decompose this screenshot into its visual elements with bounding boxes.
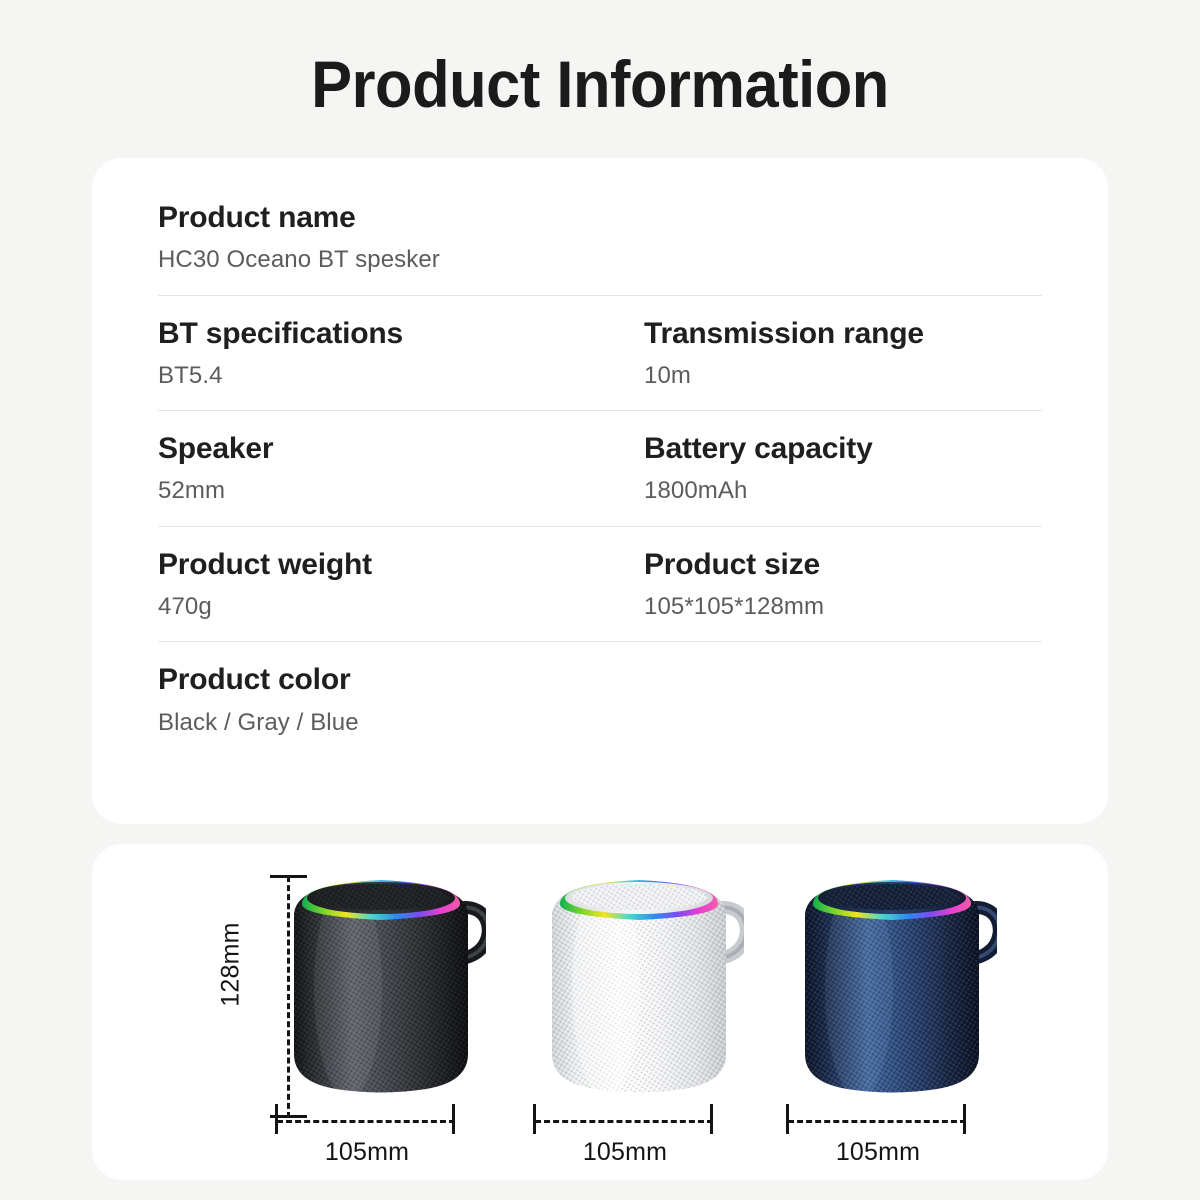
spec-value: BT5.4	[158, 360, 644, 392]
speaker-image-blue	[787, 858, 997, 1106]
spec-label: Product color	[158, 661, 1042, 699]
spec-value: 1800mAh	[644, 475, 1042, 507]
spec-cell-product-name: Product name HC30 Oceano BT spesker	[158, 199, 1042, 277]
spec-row: Product color Black / Gray / Blue	[158, 642, 1042, 757]
spec-label: Battery capacity	[644, 430, 1042, 468]
width-dimension: 105mm	[270, 1108, 500, 1174]
spec-cell-product-color: Product color Black / Gray / Blue	[158, 661, 1042, 739]
height-dimension-label: 128mm	[217, 900, 246, 1030]
spec-row: Speaker 52mm Battery capacity 1800mAh	[158, 411, 1042, 527]
spec-cell-product-weight: Product weight 470g	[158, 546, 644, 624]
spec-label: Product name	[158, 199, 1042, 237]
dimension-line-icon	[535, 1120, 713, 1123]
spec-label: Transmission range	[644, 315, 1042, 353]
spec-value: Black / Gray / Blue	[158, 707, 1042, 739]
width-dimension: 105mm	[528, 1108, 758, 1174]
speaker-variant-black: 105mm	[254, 858, 516, 1180]
width-dimension-label: 105mm	[528, 1138, 722, 1167]
dimension-line-icon	[277, 1120, 455, 1123]
width-dimension-label: 105mm	[781, 1138, 975, 1167]
specifications-list: Product name HC30 Oceano BT spesker BT s…	[158, 180, 1042, 757]
spec-row: Product weight 470g Product size 105*105…	[158, 527, 1042, 643]
dimension-cap-icon	[275, 1104, 278, 1134]
spec-row: Product name HC30 Oceano BT spesker	[158, 180, 1042, 296]
speaker-variants: 105mm	[244, 844, 1108, 1180]
spec-label: BT specifications	[158, 315, 644, 353]
dimension-line-icon	[788, 1120, 966, 1123]
spec-label: Product weight	[158, 546, 644, 584]
spec-row: BT specifications BT5.4 Transmission ran…	[158, 296, 1042, 412]
spec-cell-transmission-range: Transmission range 10m	[644, 315, 1042, 393]
spec-cell-product-size: Product size 105*105*128mm	[644, 546, 1042, 624]
speaker-variant-blue: 105mm	[765, 858, 1027, 1180]
dimension-cap-icon	[710, 1104, 713, 1134]
product-information-page: Product Information Product name HC30 Oc…	[0, 0, 1200, 1200]
spec-value: 470g	[158, 591, 644, 623]
spec-value: HC30 Oceano BT spesker	[158, 244, 1042, 276]
spec-cell-battery-capacity: Battery capacity 1800mAh	[644, 430, 1042, 508]
dimension-cap-icon	[786, 1104, 789, 1134]
speaker-image-black	[276, 858, 486, 1106]
width-dimension: 105mm	[781, 1108, 1011, 1174]
spec-label: Speaker	[158, 430, 644, 468]
spec-cell-bt-specifications: BT specifications BT5.4	[158, 315, 644, 393]
speaker-variant-gray: 105mm	[512, 858, 774, 1180]
width-dimension-label: 105mm	[270, 1138, 464, 1167]
specifications-card: Product name HC30 Oceano BT spesker BT s…	[92, 158, 1108, 824]
spec-value: 10m	[644, 360, 1042, 392]
dimension-cap-icon	[963, 1104, 966, 1134]
page-title: Product Information	[42, 46, 1158, 122]
speaker-image-gray	[534, 858, 744, 1106]
dimension-cap-icon	[452, 1104, 455, 1134]
product-gallery-card: 128mm	[92, 844, 1108, 1180]
dimension-cap-icon	[533, 1104, 536, 1134]
spec-value: 52mm	[158, 475, 644, 507]
spec-label: Product size	[644, 546, 1042, 584]
spec-cell-speaker: Speaker 52mm	[158, 430, 644, 508]
spec-value: 105*105*128mm	[644, 591, 1042, 623]
